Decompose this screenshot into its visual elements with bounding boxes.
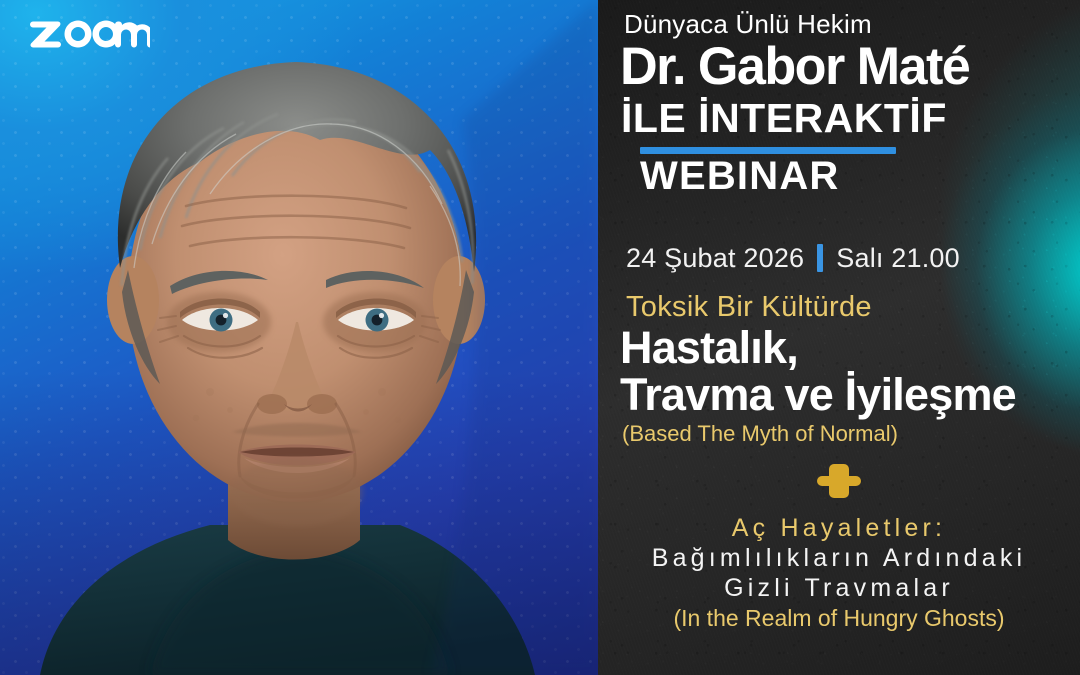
header-block: Dünyaca Ünlü Hekim Dr. Gabor Maté İLE İN… (598, 10, 1080, 196)
secondary-topic-source-note: (In the Realm of Hungry Ghosts) (608, 605, 1070, 633)
right-info-panel: Dünyaca Ünlü Hekim Dr. Gabor Maté İLE İN… (598, 0, 1080, 675)
event-time: Salı 21.00 (836, 245, 960, 272)
topic-title-line1: Hastalık, (620, 322, 798, 373)
left-photo-panel (0, 0, 598, 675)
topic-title-line2: Travma ve İyileşme (620, 372, 1080, 419)
topic-source-note: (Based The Myth of Normal) (622, 422, 1080, 446)
secondary-topic-line2: Gizli Travmalar (608, 573, 1070, 603)
plus-divider (598, 459, 1080, 503)
event-type-line: İLE İNTERAKTİF (621, 97, 1074, 140)
webinar-promo-poster: Dünyaca Ünlü Hekim Dr. Gabor Maté İLE İN… (0, 0, 1080, 675)
speaker-portrait (0, 0, 598, 675)
secondary-topic-line1: Bağımlılıkların Ardındaki (608, 543, 1070, 573)
eyebrow-text: Dünyaca Ünlü Hekim (624, 10, 1074, 39)
accent-rule (640, 147, 896, 154)
plus-icon (817, 459, 861, 503)
schedule-separator-icon (817, 244, 823, 272)
secondary-topic-block: Aç Hayaletler: Bağımlılıkların Ardındaki… (598, 514, 1080, 633)
schedule-row: 24 Şubat 2026 Salı 21.00 (626, 244, 1080, 272)
topic-kicker: Toksik Bir Kültürde (626, 292, 1080, 324)
poster-content: Dünyaca Ünlü Hekim Dr. Gabor Maté İLE İN… (598, 0, 1080, 675)
event-date: 24 Şubat 2026 (626, 245, 804, 272)
topic-title: Hastalık, Travma ve İyileşme (620, 325, 1080, 419)
secondary-topic-heading: Aç Hayaletler: (608, 514, 1070, 544)
speaker-name: Dr. Gabor Maté (620, 40, 1067, 94)
webinar-label: WEBINAR (640, 156, 1074, 196)
zoom-logo (30, 4, 150, 52)
